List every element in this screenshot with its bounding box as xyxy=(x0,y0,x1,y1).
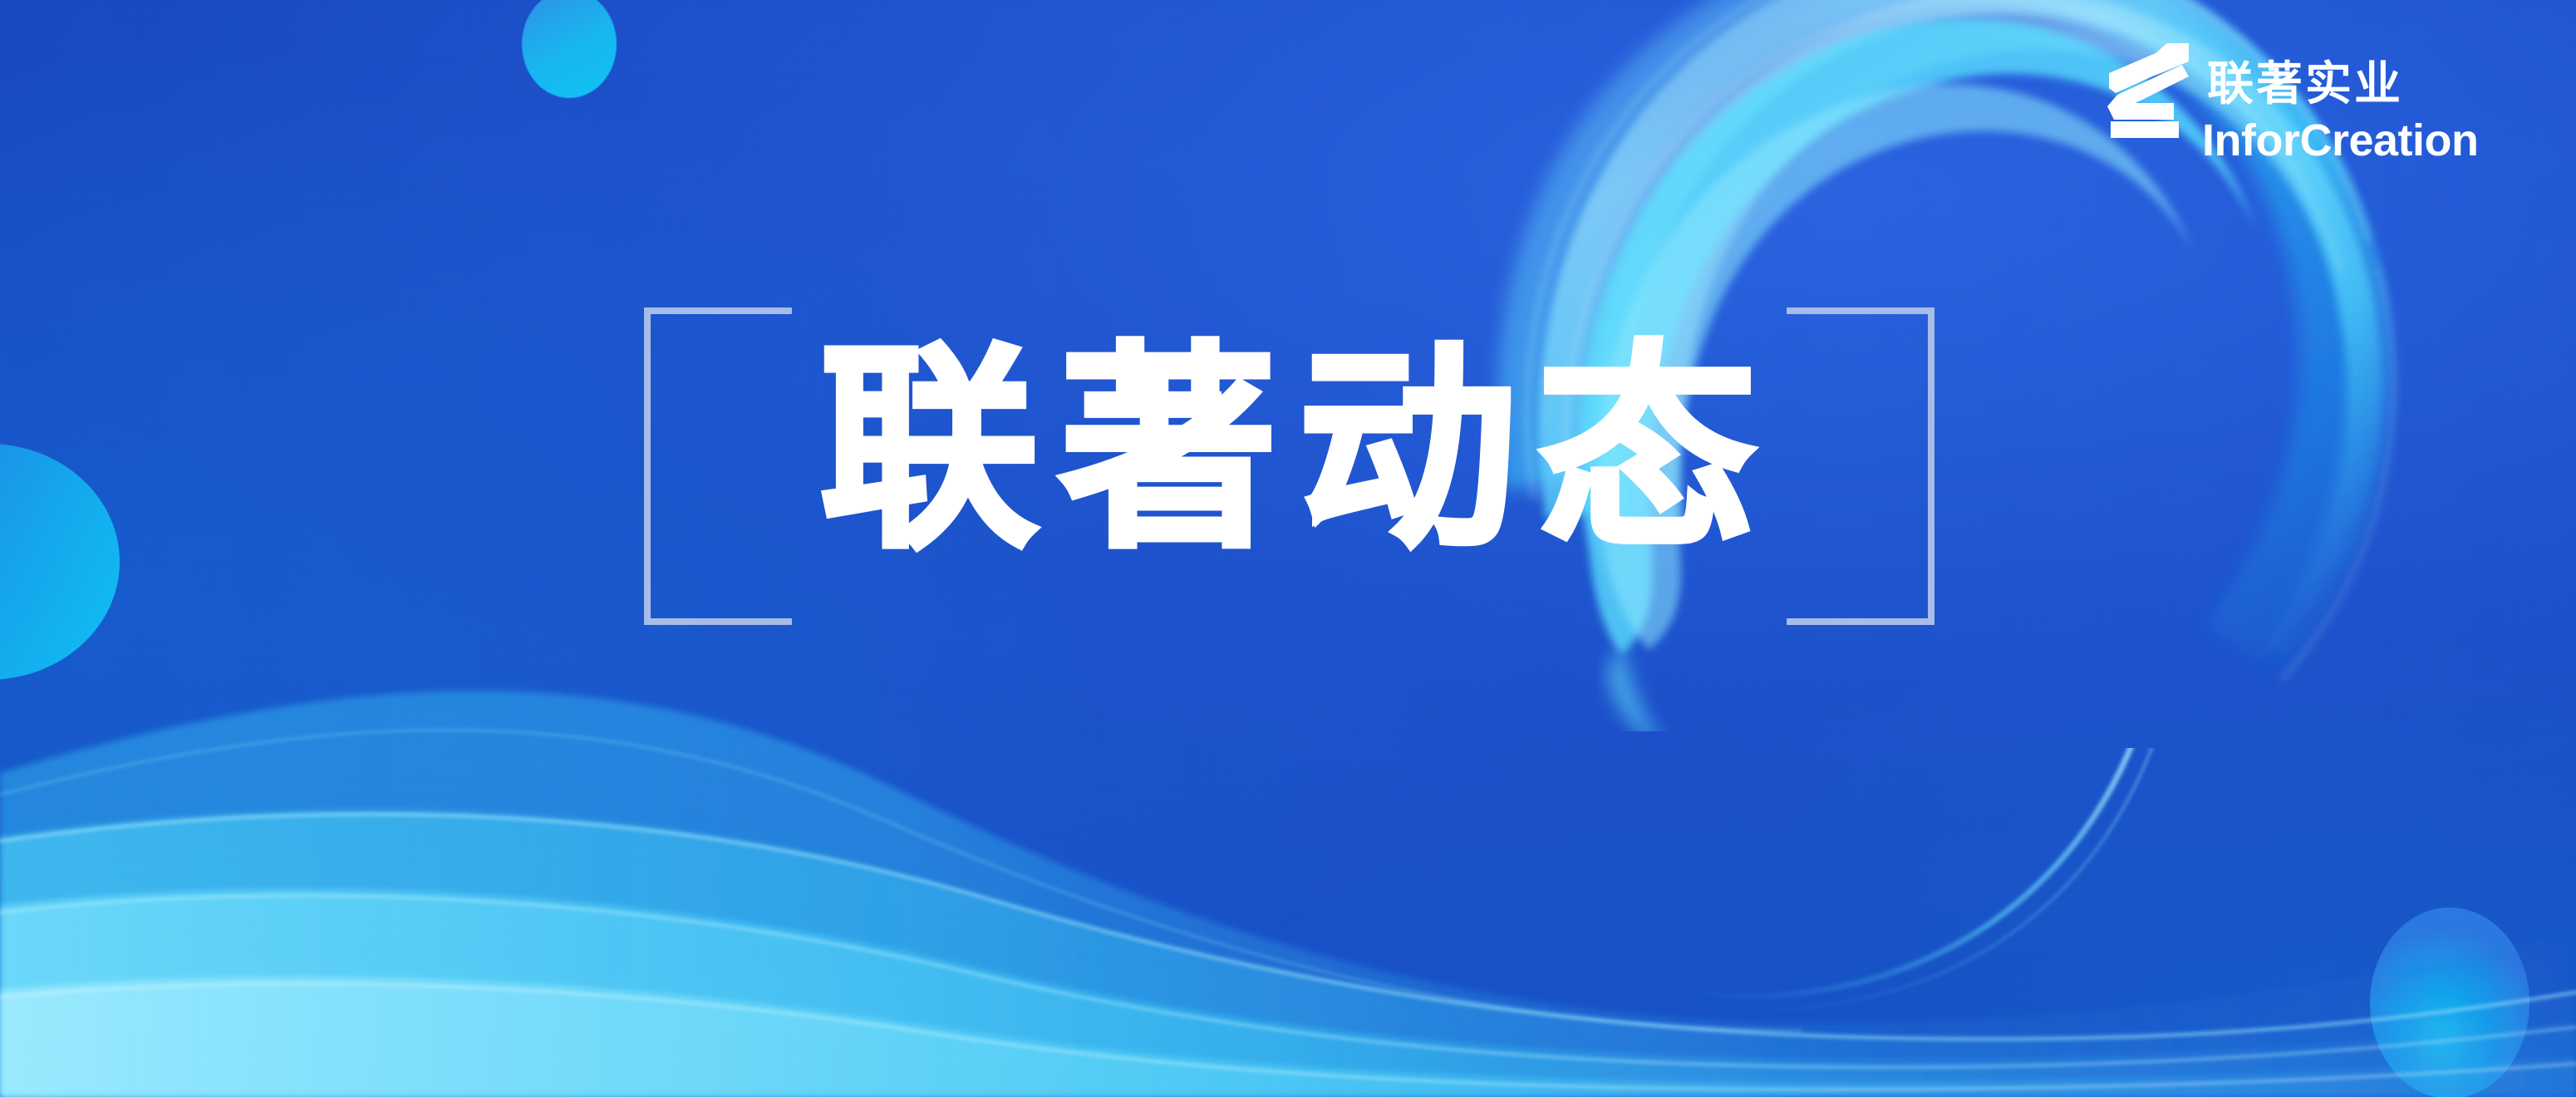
company-name-cn: 联著实业 xyxy=(2207,61,2403,108)
banner-title: 联著动态 xyxy=(0,336,2576,564)
company-name-en: InforCreation xyxy=(2202,118,2479,163)
company-logo[interactable]: 联著实业 InforCreation xyxy=(2102,32,2534,165)
inforcreation-z-mark-icon xyxy=(2102,40,2200,140)
bracket-bottom-left-arm xyxy=(644,618,792,625)
banner-canvas: 联著动态 联著实业 InforCreation xyxy=(0,0,2576,1097)
bracket-bottom-right-arm xyxy=(1787,618,1934,625)
bracket-top-left-arm xyxy=(644,307,792,314)
bracket-top-right-arm xyxy=(1787,307,1934,314)
